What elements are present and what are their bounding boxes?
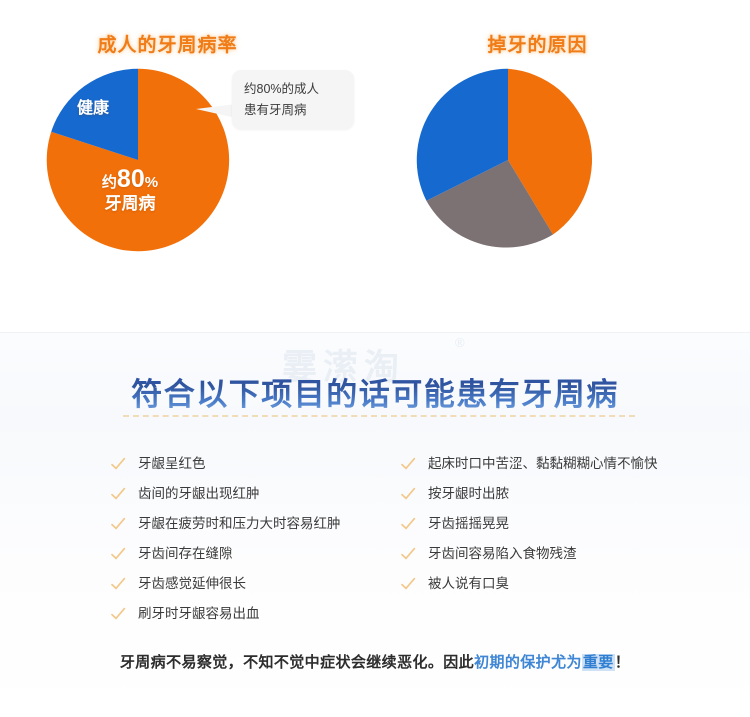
footer-part-1: 牙周病不易察觉，不知不觉中症状会继续恶化。因此: [120, 654, 474, 671]
list-item: 牙齿间容易陷入食物残渣: [400, 543, 720, 564]
chart-adult-periodontal-rate: 成人的牙周病率 健康 约80% 牙周病 约80%的成人 患有牙周病: [0, 0, 375, 330]
heading-divider: [123, 415, 635, 417]
list-item-label: 被人说有口臭: [428, 576, 509, 591]
check-icon: [110, 516, 126, 532]
chart-2-title: 掉牙的原因: [375, 30, 750, 57]
symptoms-panel: 霎潆淘 ® 符合以下项目的话可能患有牙周病 牙龈呈红色 齿间的牙龈出现红肿: [0, 332, 750, 717]
list-item-label: 按牙龈时出脓: [428, 486, 509, 501]
list-item-label: 牙齿感觉延伸很长: [138, 576, 246, 591]
footer-part-4: ！: [615, 654, 630, 671]
list-item: 牙齿间存在缝隙: [110, 543, 410, 564]
list-item: 被人说有口臭: [400, 573, 720, 594]
check-icon: [400, 516, 416, 532]
pie-chart-1-svg: [42, 64, 234, 256]
list-item-label: 牙齿摇摇晃晃: [428, 516, 509, 531]
list-item-label: 齿间的牙龈出现红肿: [138, 486, 260, 501]
list-item-label: 牙龈在疲劳时和压力大时容易红肿: [138, 516, 341, 531]
list-item-label: 起床时口中苦涩、黏黏糊糊心情不愉快: [428, 456, 658, 471]
list-item-label: 牙齿间存在缝隙: [138, 546, 233, 561]
list-item-label: 牙齿间容易陷入食物残渣: [428, 546, 577, 561]
checklist-column-right: 起床时口中苦涩、黏黏糊糊心情不愉快 按牙龈时出脓 牙齿摇摇晃晃 牙齿间容易陷入食…: [400, 453, 720, 603]
footer-highlight: 重要: [582, 654, 615, 671]
list-item: 牙齿摇摇晃晃: [400, 513, 720, 534]
list-item: 起床时口中苦涩、黏黏糊糊心情不愉快: [400, 453, 720, 474]
check-icon: [110, 576, 126, 592]
check-icon: [400, 576, 416, 592]
pie-chart-2: [412, 64, 604, 256]
charts-section: 成人的牙周病率 健康 约80% 牙周病 约80%的成人 患有牙周病 掉牙的原因: [0, 0, 750, 330]
callout-1-line2: 患有牙周病: [244, 100, 342, 121]
list-item-label: 牙龈呈红色: [138, 456, 206, 471]
check-icon: [400, 456, 416, 472]
watermark-registered-icon: ®: [455, 335, 465, 350]
footer-note: 牙周病不易察觉，不知不觉中症状会继续恶化。因此初期的保护尤为重要！: [0, 651, 750, 672]
checklist-column-left: 牙龈呈红色 齿间的牙龈出现红肿 牙龈在疲劳时和压力大时容易红肿 牙齿间存在缝隙: [110, 453, 410, 633]
check-icon: [110, 486, 126, 502]
callout-1-tail: [196, 104, 236, 118]
list-item: 牙龈呈红色: [110, 453, 410, 474]
list-item: 按牙龈时出脓: [400, 483, 720, 504]
callout-1: 约80%的成人 患有牙周病: [232, 70, 354, 129]
pie-chart-2-svg: [412, 64, 604, 256]
check-icon: [110, 606, 126, 622]
callout-1-line1: 约80%的成人: [244, 79, 342, 100]
list-item: 牙龈在疲劳时和压力大时容易红肿: [110, 513, 410, 534]
chart-1-title: 成人的牙周病率: [0, 30, 375, 57]
check-icon: [110, 456, 126, 472]
check-icon: [400, 546, 416, 562]
list-item: 牙齿感觉延伸很长: [110, 573, 410, 594]
symptom-checklist: 牙龈呈红色 齿间的牙龈出现红肿 牙龈在疲劳时和压力大时容易红肿 牙齿间存在缝隙: [0, 453, 750, 643]
list-item: 刷牙时牙龈容易出血: [110, 603, 410, 624]
pie-chart-1: [42, 64, 234, 256]
check-icon: [400, 486, 416, 502]
page-title: 符合以下项目的话可能患有牙周病: [0, 369, 750, 414]
chart-tooth-loss-causes: 掉牙的原因 约41.8% 牙周病 蛀牙 约32.4% 其他: [375, 0, 750, 330]
check-icon: [110, 546, 126, 562]
list-item-label: 刷牙时牙龈容易出血: [138, 606, 260, 621]
list-item: 齿间的牙龈出现红肿: [110, 483, 410, 504]
footer-part-2: 初期的保护尤为: [474, 654, 582, 671]
